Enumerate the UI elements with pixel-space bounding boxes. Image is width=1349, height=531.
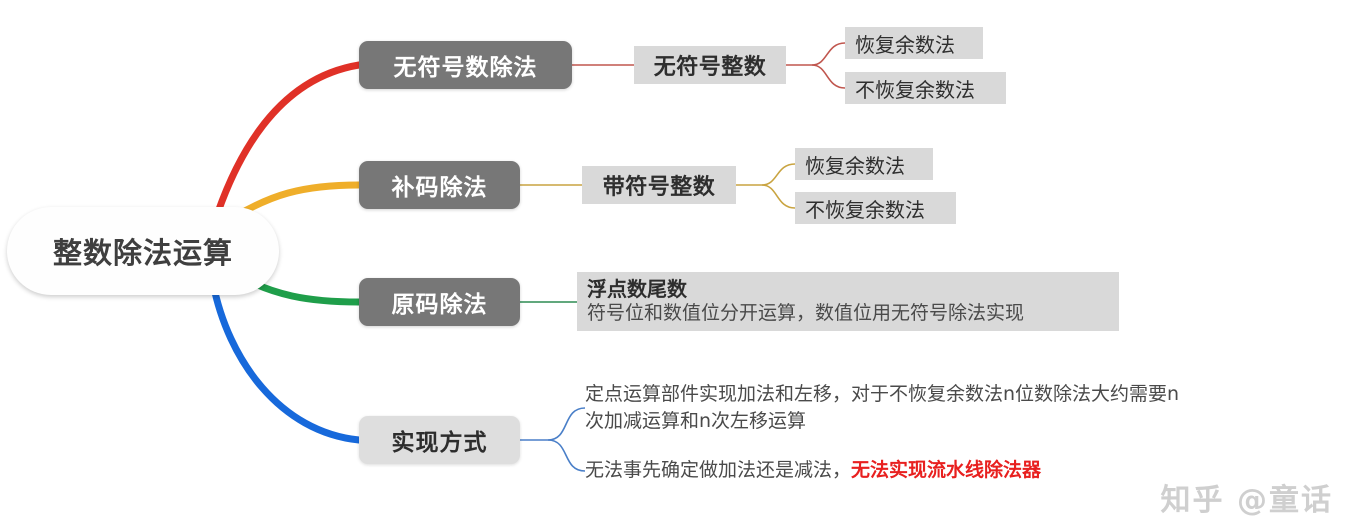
branch-node-label: 补码除法 (392, 168, 488, 202)
leaf-node-label: 不恢复余数法 (805, 194, 925, 223)
branch-node-label: 无符号数除法 (394, 48, 538, 82)
note-node-float-mantissa[interactable]: 浮点数尾数 符号位和数值位分开运算，数值位用无符号除法实现 (577, 272, 1119, 331)
text-highlight-part: 无法实现流水线除法器 (851, 459, 1041, 481)
link-b1-leaf-1 (812, 43, 845, 65)
watermark: 知乎 @童话 (1161, 475, 1333, 519)
note-title: 浮点数尾数 (587, 277, 1109, 301)
root-node-label: 整数除法运算 (53, 230, 233, 272)
link-b2-leaf-1 (762, 164, 795, 185)
mid-node-label: 带符号整数 (603, 169, 716, 201)
leaf-node-nonrestoring-2[interactable]: 不恢复余数法 (795, 192, 956, 224)
branch-node-label: 实现方式 (392, 423, 488, 457)
note-body: 符号位和数值位分开运算，数值位用无符号除法实现 (587, 301, 1109, 325)
branch-node-twos-complement-division[interactable]: 补码除法 (359, 161, 520, 209)
text-line-1: 定点运算部件实现加法和左移，对于不恢复余数法n位数除法大约需要n (585, 381, 1285, 408)
leaf-node-label: 恢复余数法 (855, 29, 955, 58)
leaf-node-restoring-2[interactable]: 恢复余数法 (795, 148, 933, 180)
branch-node-sign-magnitude-division[interactable]: 原码除法 (359, 278, 520, 326)
curve-branch-1 (218, 65, 359, 212)
branch-node-unsigned-division[interactable]: 无符号数除法 (359, 41, 572, 89)
leaf-node-label: 不恢复余数法 (855, 74, 975, 103)
mid-node-label: 无符号整数 (654, 49, 767, 81)
text-line-2: 次加减运算和n次左移运算 (585, 408, 1285, 435)
leaf-node-nonrestoring-1[interactable]: 不恢复余数法 (845, 72, 1006, 104)
root-node[interactable]: 整数除法运算 (7, 207, 279, 295)
link-b4-text-1 (548, 408, 585, 440)
link-b1-leaf-2 (812, 65, 845, 88)
mid-node-signed-integer[interactable]: 带符号整数 (582, 166, 736, 204)
text-node-implementation-detail[interactable]: 定点运算部件实现加法和左移，对于不恢复余数法n位数除法大约需要n 次加减运算和n… (585, 381, 1285, 435)
branch-node-label: 原码除法 (392, 285, 488, 319)
text-plain-part: 无法事先确定做加法还是减法， (585, 459, 851, 481)
link-b2-leaf-2 (762, 185, 795, 208)
curve-branch-4 (213, 283, 359, 440)
mid-node-unsigned-integer[interactable]: 无符号整数 (634, 46, 786, 84)
leaf-node-label: 恢复余数法 (805, 150, 905, 179)
link-b4-text-2 (548, 440, 585, 471)
leaf-node-restoring-1[interactable]: 恢复余数法 (845, 27, 983, 59)
branch-node-implementation[interactable]: 实现方式 (359, 416, 520, 464)
mindmap-canvas: 整数除法运算 无符号数除法 无符号整数 恢复余数法 不恢复余数法 补码除法 带符… (0, 0, 1349, 531)
